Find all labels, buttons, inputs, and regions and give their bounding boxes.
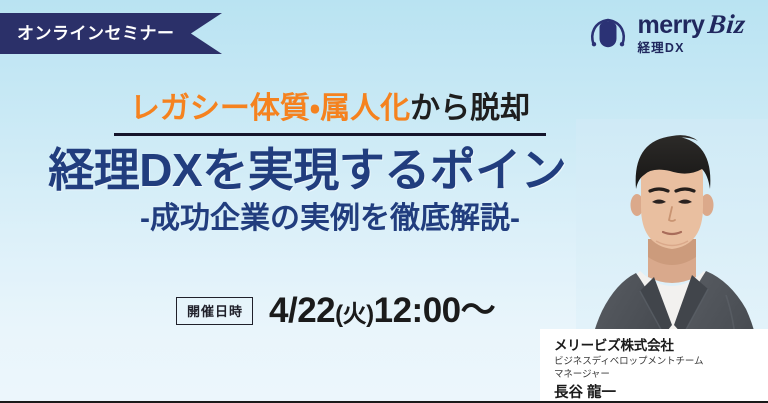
logo-wordmark: merry Biz 経理DX [637, 11, 746, 55]
datetime-badge: 開催日時 [176, 297, 253, 325]
datetime-date: 4/22 [269, 291, 335, 330]
page-subtitle: -成功企業の実例を徹底解説- [0, 202, 660, 237]
speaker-company: メリービズ株式会社 [554, 338, 756, 355]
online-seminar-ribbon: オンラインセミナー [0, 13, 222, 54]
ribbon-label: オンラインセミナー [0, 25, 175, 42]
page-title: 経理DXを実現するポイント [0, 145, 660, 196]
logo-brand-primary: merry [637, 13, 704, 38]
headline-block: レガシー体質・属人化から脱却 経理DXを実現するポイント -成功企業の実例を徹底… [0, 92, 660, 237]
datetime-value: 4/22(火)12:00〜 [269, 293, 495, 328]
datetime-time: 12:00〜 [374, 291, 496, 330]
merrybiz-character-mark-icon [588, 14, 628, 52]
logo-brand-secondary: Biz [707, 11, 747, 38]
speaker-info-card: メリービズ株式会社 ビジネスディベロップメントチーム マネージャー 長谷 龍一 [540, 329, 768, 403]
speaker-department-line-1: ビジネスディベロップメントチーム [554, 355, 756, 368]
logo-subtitle: 経理DX [637, 42, 746, 55]
speaker-name: 長谷 龍一 [554, 385, 756, 402]
merrybiz-logo: merry Biz 経理DX [588, 11, 746, 55]
event-datetime: 開催日時 4/22(火)12:00〜 [176, 293, 495, 328]
kicker-highlight: レガシー体質・属人化 [130, 92, 410, 125]
datetime-weekday: (火) [335, 301, 373, 328]
seminar-banner: オンラインセミナー merry Biz 経理DX レガシー体質・属人化から脱却 … [0, 0, 768, 403]
kicker-rest: から脱却 [410, 92, 530, 125]
speaker-department-line-2: マネージャー [554, 368, 756, 381]
kicker-line: レガシー体質・属人化から脱却 [0, 92, 660, 127]
kicker-underline [114, 133, 546, 136]
